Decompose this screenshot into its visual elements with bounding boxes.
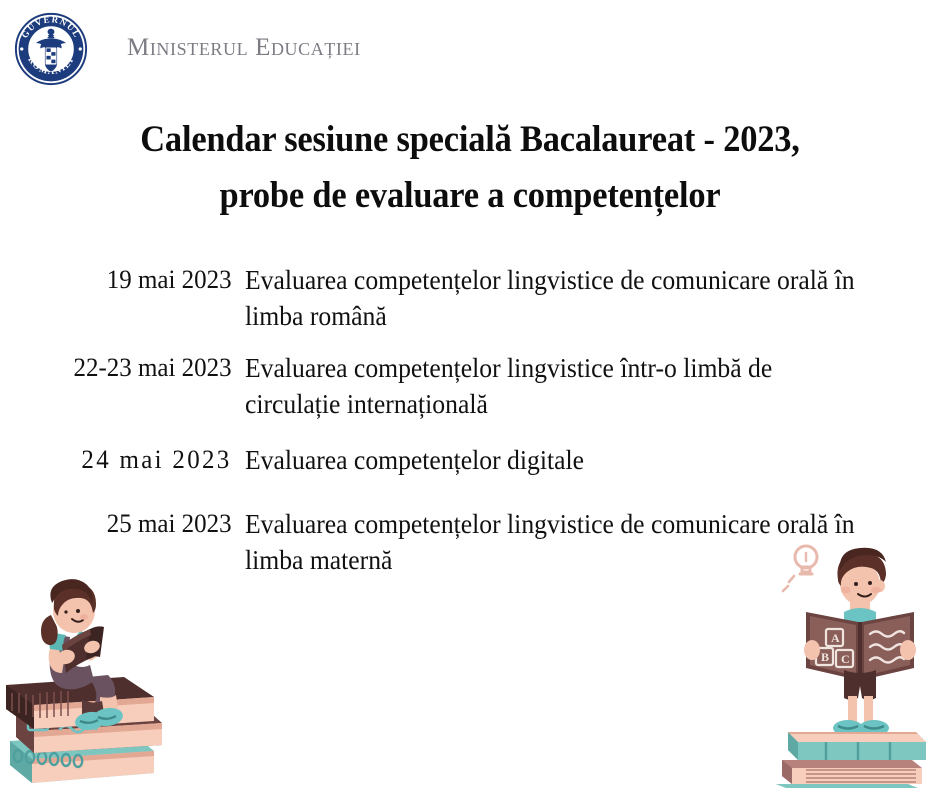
svg-text:C: C [841, 652, 850, 666]
page-title-line-1: Calendar sesiune specială Bacalaureat - … [33, 112, 907, 168]
ministry-name-label: Ministerul Educației [127, 34, 361, 62]
schedule-row: 22-23 mai 2023 Evaluarea competențelor l… [0, 350, 940, 422]
schedule-row-description: Evaluarea competențelor lingvistice de c… [245, 262, 905, 334]
svg-text:B: B [821, 650, 829, 664]
schedule-row-date: 25 mai 2023 [10, 506, 245, 542]
schedule-row-description: Evaluarea competențelor lingvistice într… [245, 350, 905, 422]
schedule-row-date: 24 mai 2023 [10, 442, 245, 478]
lightbulb-icon [783, 546, 817, 591]
romanian-government-seal-icon: GUVERNUL ROMÂNIEI [12, 10, 90, 88]
boy-reading-on-book-stack-illustration: A B C [766, 536, 938, 788]
schedule-row-description: Evaluarea competențelor digitale [245, 442, 905, 478]
svg-text:A: A [831, 631, 840, 645]
schedule-row-date: 19 mai 2023 [10, 262, 245, 298]
page-title-line-2: probe de evaluare a competențelor [33, 168, 907, 224]
schedule-row: 19 mai 2023 Evaluarea competențelor ling… [0, 262, 940, 334]
girl-reading-on-book-stack-illustration [4, 573, 214, 788]
schedule-row-date: 22-23 mai 2023 [10, 350, 245, 386]
page-header: GUVERNUL ROMÂNIEI [0, 0, 940, 100]
page-title: Calendar sesiune specială Bacalaureat - … [33, 112, 907, 224]
schedule-row: 24 mai 2023 Evaluarea competențelor digi… [0, 442, 940, 478]
